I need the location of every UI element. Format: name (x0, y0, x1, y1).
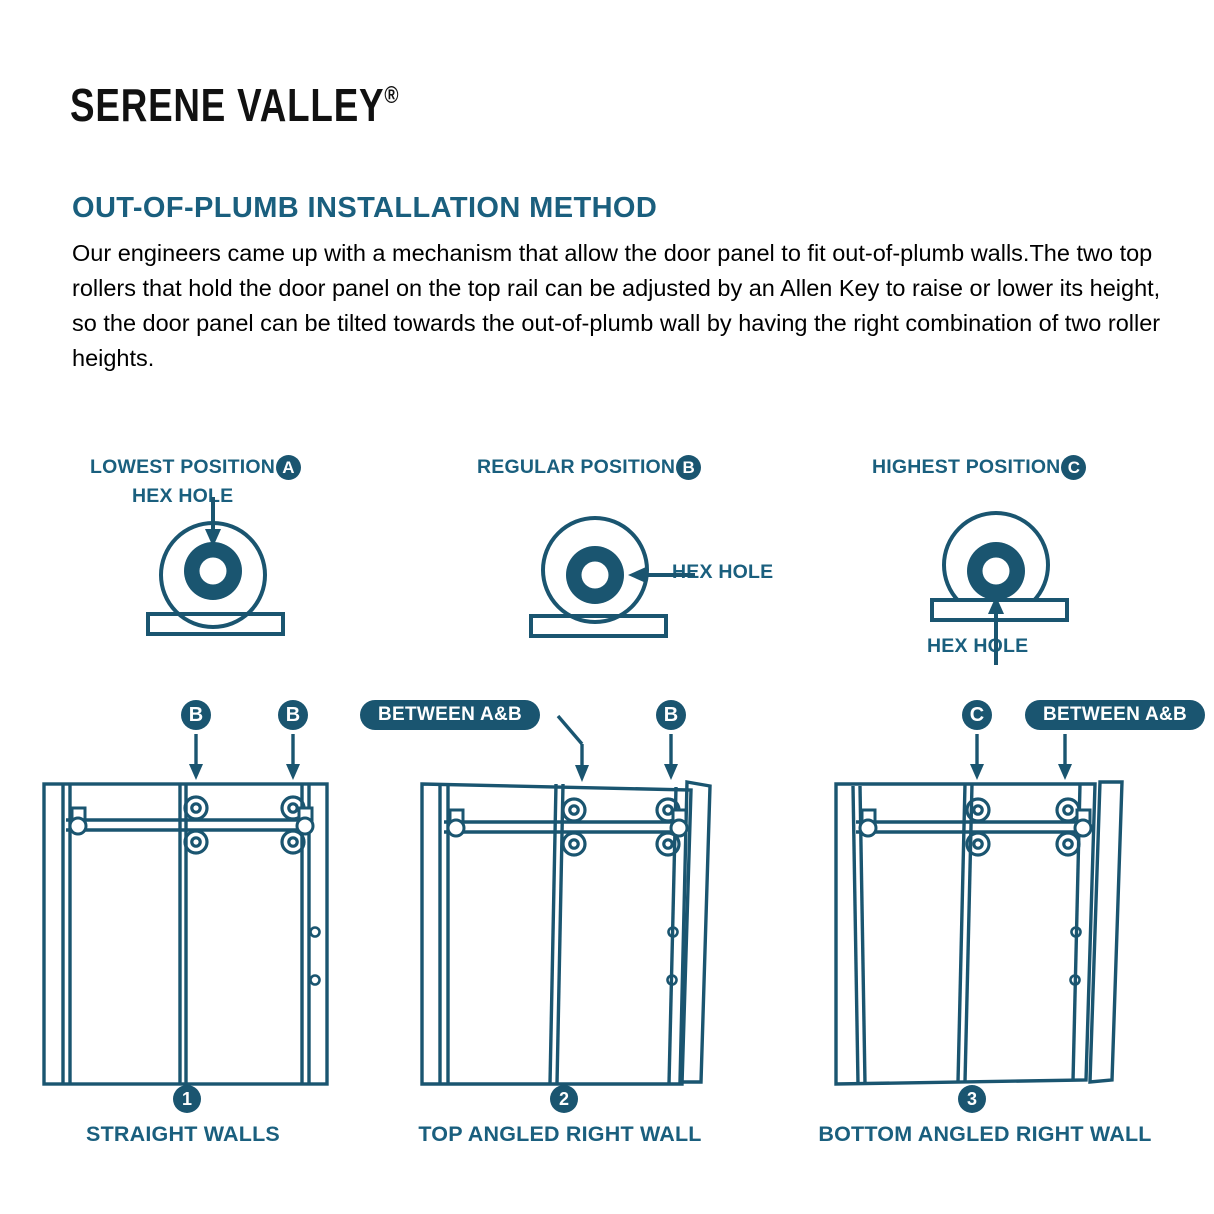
hex-hole-arrow-regular (628, 567, 695, 583)
diagram-caption-1: STRAIGHT WALLS (28, 1122, 338, 1147)
position-badge-b: B (676, 455, 701, 480)
rail-bar (148, 614, 283, 634)
center-divider-a (958, 784, 965, 1082)
position-badge-a: A (276, 455, 301, 480)
marker-arrow-c (970, 734, 984, 780)
door-illustration-bottom-angled (800, 732, 1180, 1112)
roller-illustration-regular (499, 503, 739, 643)
diagram-number-1: 1 (173, 1085, 201, 1113)
center-divider-b (965, 784, 972, 1082)
marker-badge-c: C (962, 700, 992, 730)
hex-hole (200, 558, 227, 585)
roller-diagram-lowest: LOWEST POSITION A HEX HOLE (90, 455, 301, 480)
roller-title-lowest: LOWEST POSITION A (90, 455, 301, 480)
roller-diagram-regular: REGULAR POSITION B HEX HOLE (477, 455, 701, 480)
bracket-right (1075, 810, 1091, 836)
roller-title-regular: REGULAR POSITION B (477, 455, 701, 480)
marker-badge-b-right: B (278, 700, 308, 730)
handle-holes (311, 928, 320, 985)
roller-diagram-highest: HIGHEST POSITION C HEX HOLE (872, 455, 1086, 480)
registered-trademark-icon: ® (384, 82, 398, 109)
roller-group (967, 799, 1079, 855)
roller-title-highest: HIGHEST POSITION C (872, 455, 1086, 480)
roller-illustration-highest (894, 497, 1134, 677)
diagram-caption-2: TOP ANGLED RIGHT WALL (405, 1122, 715, 1147)
infographic-page: SERENE VALLEY® OUT-OF-PLUMB INSTALLATION… (0, 0, 1214, 1214)
hex-hole (983, 558, 1010, 585)
brand-name: SERENE VALLEY (70, 79, 384, 131)
marker-badge-b-left: B (181, 700, 211, 730)
page-title: OUT-OF-PLUMB INSTALLATION METHOD (72, 192, 657, 225)
brand-logo: SERENE VALLEY® (70, 78, 399, 132)
bracket-right (297, 808, 313, 834)
rail-bar (531, 616, 666, 636)
diagram-caption-3: BOTTOM ANGLED RIGHT WALL (800, 1122, 1170, 1147)
position-badge-c: C (1061, 455, 1086, 480)
hex-hole (582, 562, 609, 589)
intro-paragraph: Our engineers came up with a mechanism t… (72, 236, 1182, 376)
bracket-right (671, 810, 687, 836)
diagram-number-2: 2 (550, 1085, 578, 1113)
pill-leader (558, 716, 589, 782)
marker-pill-between-ab: BETWEEN A&B (360, 700, 540, 730)
marker-pill-between-ab: BETWEEN A&B (1025, 700, 1205, 730)
marker-arrow (664, 734, 678, 780)
door-illustration-straight (28, 732, 348, 1112)
pill-leader (1058, 734, 1072, 780)
marker-arrows (189, 734, 300, 780)
hex-hole-label-lowest: HEX HOLE (132, 485, 233, 508)
bracket-left (70, 808, 86, 834)
marker-badge-b: B (656, 700, 686, 730)
roller-group (563, 799, 679, 855)
bracket-left (448, 810, 464, 836)
roller-illustration-lowest (118, 513, 348, 643)
door-illustration-top-angled (360, 732, 720, 1112)
center-divider-a (550, 784, 556, 1084)
bracket-left (860, 810, 876, 836)
diagram-number-3: 3 (958, 1085, 986, 1113)
center-divider-b (557, 784, 563, 1084)
roller-group (185, 797, 304, 853)
